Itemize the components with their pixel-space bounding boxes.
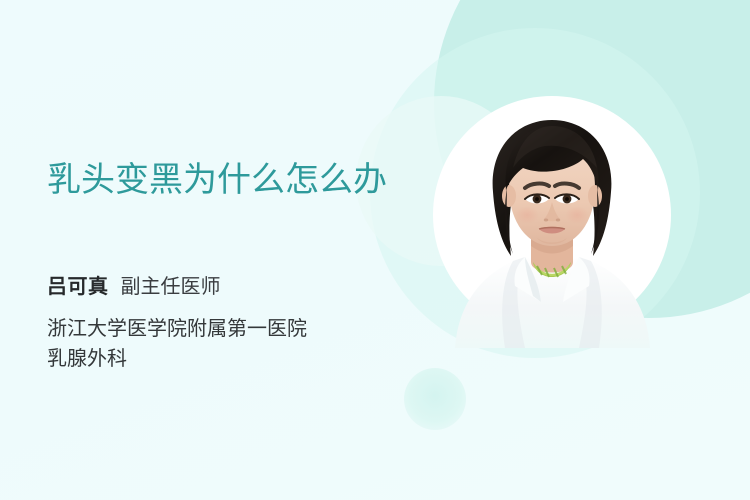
doctor-professional-title: 副主任医师 (121, 276, 221, 298)
doctor-video-cover-card: 乳头变黑为什么怎么办 吕可真副主任医师 浙江大学医学院附属第一医院 乳腺外科 (0, 0, 750, 500)
doctor-hospital: 浙江大学医学院附属第一医院 (47, 314, 407, 344)
doctor-name-row: 吕可真副主任医师 (47, 272, 407, 302)
doctor-name: 吕可真 (47, 276, 109, 298)
page-title: 乳头变黑为什么怎么办 (47, 160, 387, 200)
doctor-department: 乳腺外科 (47, 344, 407, 374)
doctor-info-block: 吕可真副主任医师 浙江大学医学院附属第一医院 乳腺外科 (47, 272, 407, 374)
doctor-head (493, 120, 612, 256)
doctor-portrait (433, 96, 671, 348)
background-circle-small-bottom (404, 368, 466, 430)
